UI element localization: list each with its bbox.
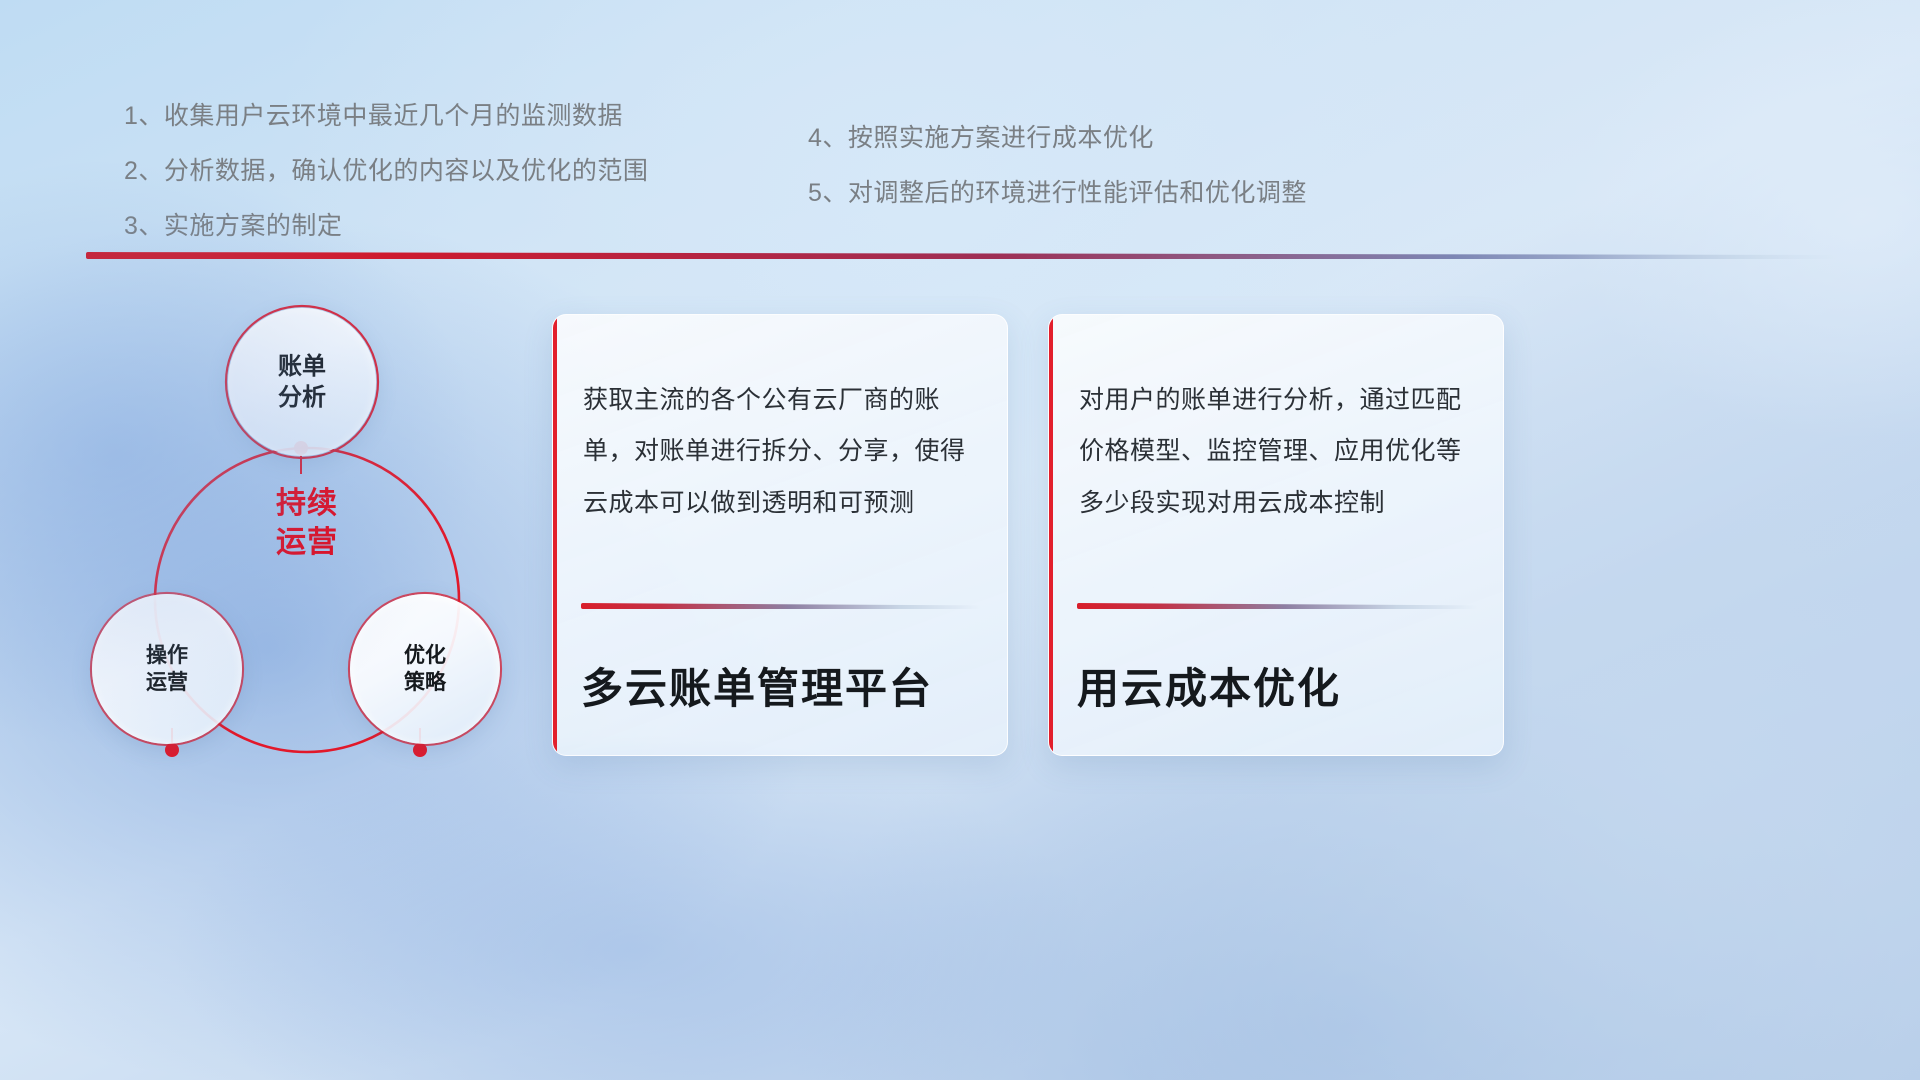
cycle-node-optimization-strategy[interactable]: 优化策略 (350, 594, 500, 744)
cycle-diagram: 账单分析 操作运营 优化策略 持续运营 (72, 288, 542, 768)
process-list-left: 1、收集用户云环境中最近几个月的监测数据 2、分析数据，确认优化的内容以及优化的… (124, 104, 648, 269)
cycle-node-label: 账单分析 (278, 351, 326, 413)
cycle-node-label: 优化策略 (404, 642, 446, 697)
list-item: 3、实施方案的制定 (124, 214, 648, 239)
list-item: 5、对调整后的环境进行性能评估和优化调整 (808, 181, 1307, 206)
card-description: 对用户的账单进行分析，通过匹配价格模型、监控管理、应用优化等多少段实现对用云成本… (1079, 375, 1475, 529)
cycle-node-label: 操作运营 (146, 642, 188, 697)
node-dot-left (165, 743, 179, 757)
cycle-node-bill-analysis[interactable]: 账单分析 (228, 308, 376, 456)
node-dot-right (413, 743, 427, 757)
feature-card-multicloud-billing[interactable]: 获取主流的各个公有云厂商的账单，对账单进行拆分、分享，使得云成本可以做到透明和可… (552, 314, 1008, 756)
list-item: 4、按照实施方案进行成本优化 (808, 126, 1307, 151)
cycle-center-label: 持续运营 (232, 484, 382, 562)
feature-card-cost-optimization[interactable]: 对用户的账单进行分析，通过匹配价格模型、监控管理、应用优化等多少段实现对用云成本… (1048, 314, 1504, 756)
card-description: 获取主流的各个公有云厂商的账单，对账单进行拆分、分享，使得云成本可以做到透明和可… (583, 375, 979, 529)
list-item: 1、收集用户云环境中最近几个月的监测数据 (124, 104, 648, 129)
card-title: 用云成本优化 (1077, 655, 1483, 716)
process-list-right: 4、按照实施方案进行成本优化 5、对调整后的环境进行性能评估和优化调整 (808, 126, 1307, 236)
list-item: 2、分析数据，确认优化的内容以及优化的范围 (124, 159, 648, 184)
card-divider (581, 603, 981, 609)
cycle-node-operations[interactable]: 操作运营 (92, 594, 242, 744)
card-divider (1077, 603, 1477, 609)
section-divider (86, 252, 1838, 259)
card-title: 多云账单管理平台 (581, 655, 987, 716)
slide-canvas: 1、收集用户云环境中最近几个月的监测数据 2、分析数据，确认优化的内容以及优化的… (0, 0, 1920, 1080)
